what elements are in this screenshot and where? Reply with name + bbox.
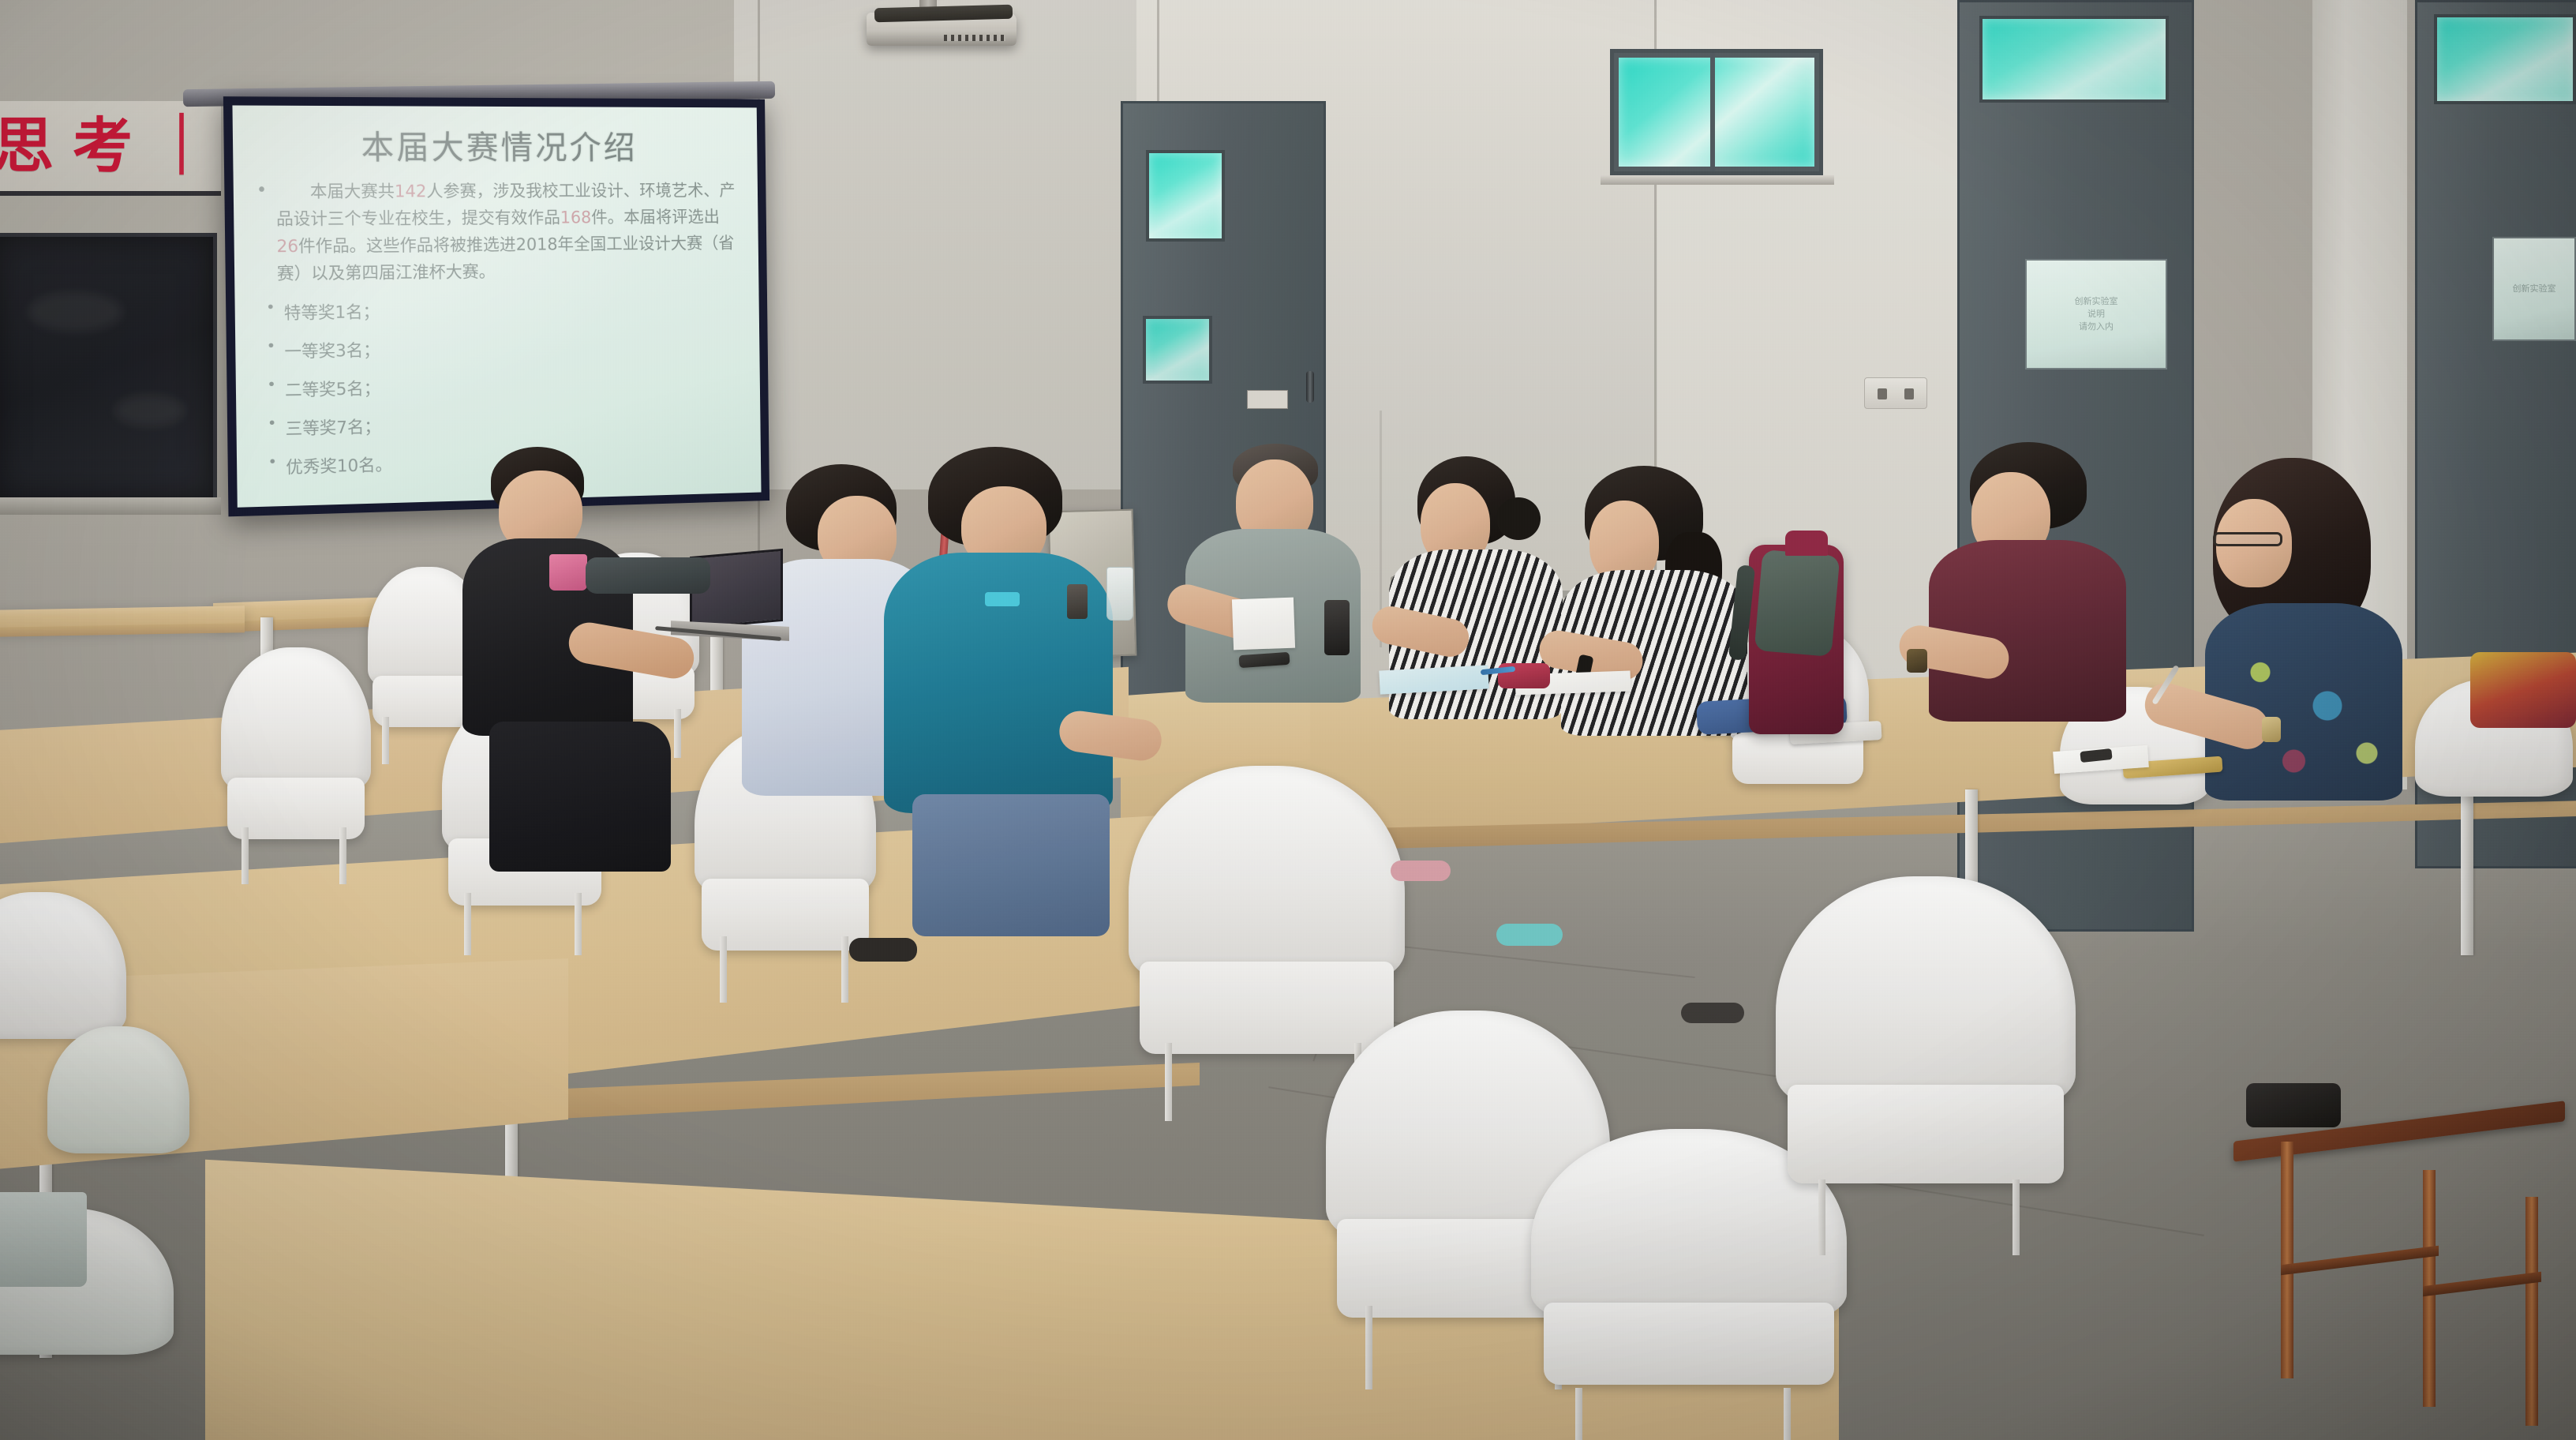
slide-bullet-special: 特等奖1名；	[284, 295, 739, 324]
door-center-window-lower	[1143, 316, 1212, 384]
chalk-tray	[0, 497, 221, 515]
dark-object-on-stool	[2246, 1083, 2341, 1127]
chair-back-rest	[1129, 766, 1405, 986]
projector-vents	[944, 35, 1005, 41]
door-right-2-sign: 创新实验室	[2492, 237, 2576, 341]
wooden-stool[interactable]	[2233, 1121, 2565, 1437]
chair-floor-4[interactable]	[1776, 876, 2076, 1255]
colorful-bag-right	[2470, 652, 2576, 728]
man-maroon-torso	[1929, 540, 2126, 722]
dark-bag-on-table	[586, 557, 710, 594]
chair-leg	[1575, 1388, 1582, 1440]
backpack-flap	[1754, 549, 1840, 657]
backpack-top-handle	[1785, 531, 1828, 556]
small-dispenser	[1067, 584, 1088, 619]
chair-leg	[841, 936, 848, 1003]
shoe-1	[849, 938, 917, 962]
person-presenter	[450, 447, 702, 873]
chair-back-rest	[0, 892, 126, 1039]
woman-floral-bracelet	[2262, 717, 2281, 742]
person-man-teal-polo	[884, 447, 1144, 936]
chalk-smudge-1	[28, 292, 122, 332]
wall-center-panel	[734, 0, 1160, 489]
chair-leg	[1165, 1043, 1172, 1121]
woman-striped-1-bun	[1496, 497, 1541, 540]
stool-leg-1	[2281, 1142, 2293, 1378]
stool-leg-3	[2525, 1197, 2538, 1426]
man-maroon-watch	[1907, 649, 1927, 673]
door-center-window	[1146, 150, 1225, 242]
trash-bin	[0, 1192, 87, 1287]
paper-stand-white	[1232, 598, 1295, 651]
door-sign-line-3: 请勿入内	[2079, 322, 2114, 332]
window-right-mullion	[1710, 53, 1715, 171]
slide-bullet-second: 二等奖5名；	[285, 369, 740, 402]
woman-floral-glasses	[2213, 532, 2282, 546]
banner-char-3: ｜	[152, 116, 212, 176]
slide-para-seg-0: 本届大赛共	[310, 182, 395, 201]
window-right-upper	[1610, 49, 1823, 175]
chair-leg	[575, 893, 582, 955]
shoe-4	[1681, 1003, 1744, 1023]
slide-para-num-142: 142	[395, 182, 427, 201]
door-sign-2-line-1: 创新实验室	[2513, 284, 2556, 294]
door-sign-line-2: 说明	[2087, 309, 2105, 319]
window-right-sill	[1601, 175, 1834, 185]
door-center-handle[interactable]	[1306, 371, 1314, 403]
slide-bullet-first: 一等奖3名；	[284, 332, 739, 363]
slide-para-seg-4: 件。本届将评选出	[591, 208, 720, 227]
pink-mug[interactable]	[549, 554, 587, 591]
chair-leg	[464, 893, 471, 955]
slide-para-num-168: 168	[560, 208, 592, 227]
door-right-1-window	[1979, 16, 2169, 103]
banner-char-1: 思	[0, 116, 54, 176]
chair-leg	[1818, 1179, 1825, 1255]
black-thermos[interactable]	[1324, 600, 1350, 655]
chair-leg	[1784, 1388, 1791, 1440]
chair-seat	[1788, 1085, 2064, 1183]
slide-para-num-26: 26	[276, 237, 298, 257]
door-right-1-sign: 创新实验室 说明 请勿入内	[2025, 259, 2167, 369]
window-right-glass	[1619, 58, 1814, 167]
chair-leg	[2012, 1179, 2020, 1255]
blackboard	[0, 233, 217, 501]
door-sign-line-1: 创新实验室	[2075, 297, 2118, 306]
door-right-2-window	[2434, 14, 2576, 104]
shoe-3	[1496, 924, 1563, 946]
stool-rail-2	[2423, 1272, 2541, 1296]
slide-title: 本届大赛情况介绍	[254, 120, 738, 168]
presenter-legs	[489, 722, 671, 872]
red-wall-banner: 思 考 ｜	[0, 101, 221, 196]
person-woman-floral	[2183, 458, 2436, 805]
chair-seat	[1544, 1303, 1834, 1385]
slide-bullet-third: 三等奖7名；	[285, 407, 740, 441]
banner-char-2: 考	[73, 116, 133, 176]
slide-paragraph: 本届大赛共142人参赛，涉及我校工业设计、环境艺术、产品设计三个专业在校生，提交…	[255, 177, 739, 287]
door-center-label-plate	[1247, 390, 1288, 409]
chair-leg	[720, 936, 727, 1003]
man-teal-logo	[985, 592, 1020, 606]
water-glass[interactable]	[1106, 567, 1133, 621]
chair-leg	[241, 827, 249, 884]
chair-leg	[382, 717, 389, 764]
classroom-scene: 思 考 ｜ 本届大赛情况介绍 本届大赛共142人参赛，涉及我校工业设计、环境艺术…	[0, 0, 2576, 1440]
person-man-maroon	[1926, 442, 2147, 726]
man-teal-jeans	[912, 794, 1110, 936]
slide-para-seg-6: 件作品。这些作品将被推选进2018年全国工业设计大赛（省赛）以及第四届江淮杯大赛…	[277, 234, 735, 283]
chair-back-rest	[47, 1026, 189, 1153]
chair-leg	[339, 827, 346, 884]
chair-leg	[1365, 1306, 1372, 1389]
chair-back-rest	[1776, 876, 2076, 1112]
chair-left-1[interactable]	[221, 647, 371, 884]
stool-rail-1	[2281, 1246, 2439, 1276]
wall-power-outlet[interactable]	[1864, 377, 1927, 409]
chair-back-rest	[221, 647, 371, 794]
chalk-smudge-2	[114, 395, 185, 426]
shoe-2	[1391, 861, 1451, 881]
